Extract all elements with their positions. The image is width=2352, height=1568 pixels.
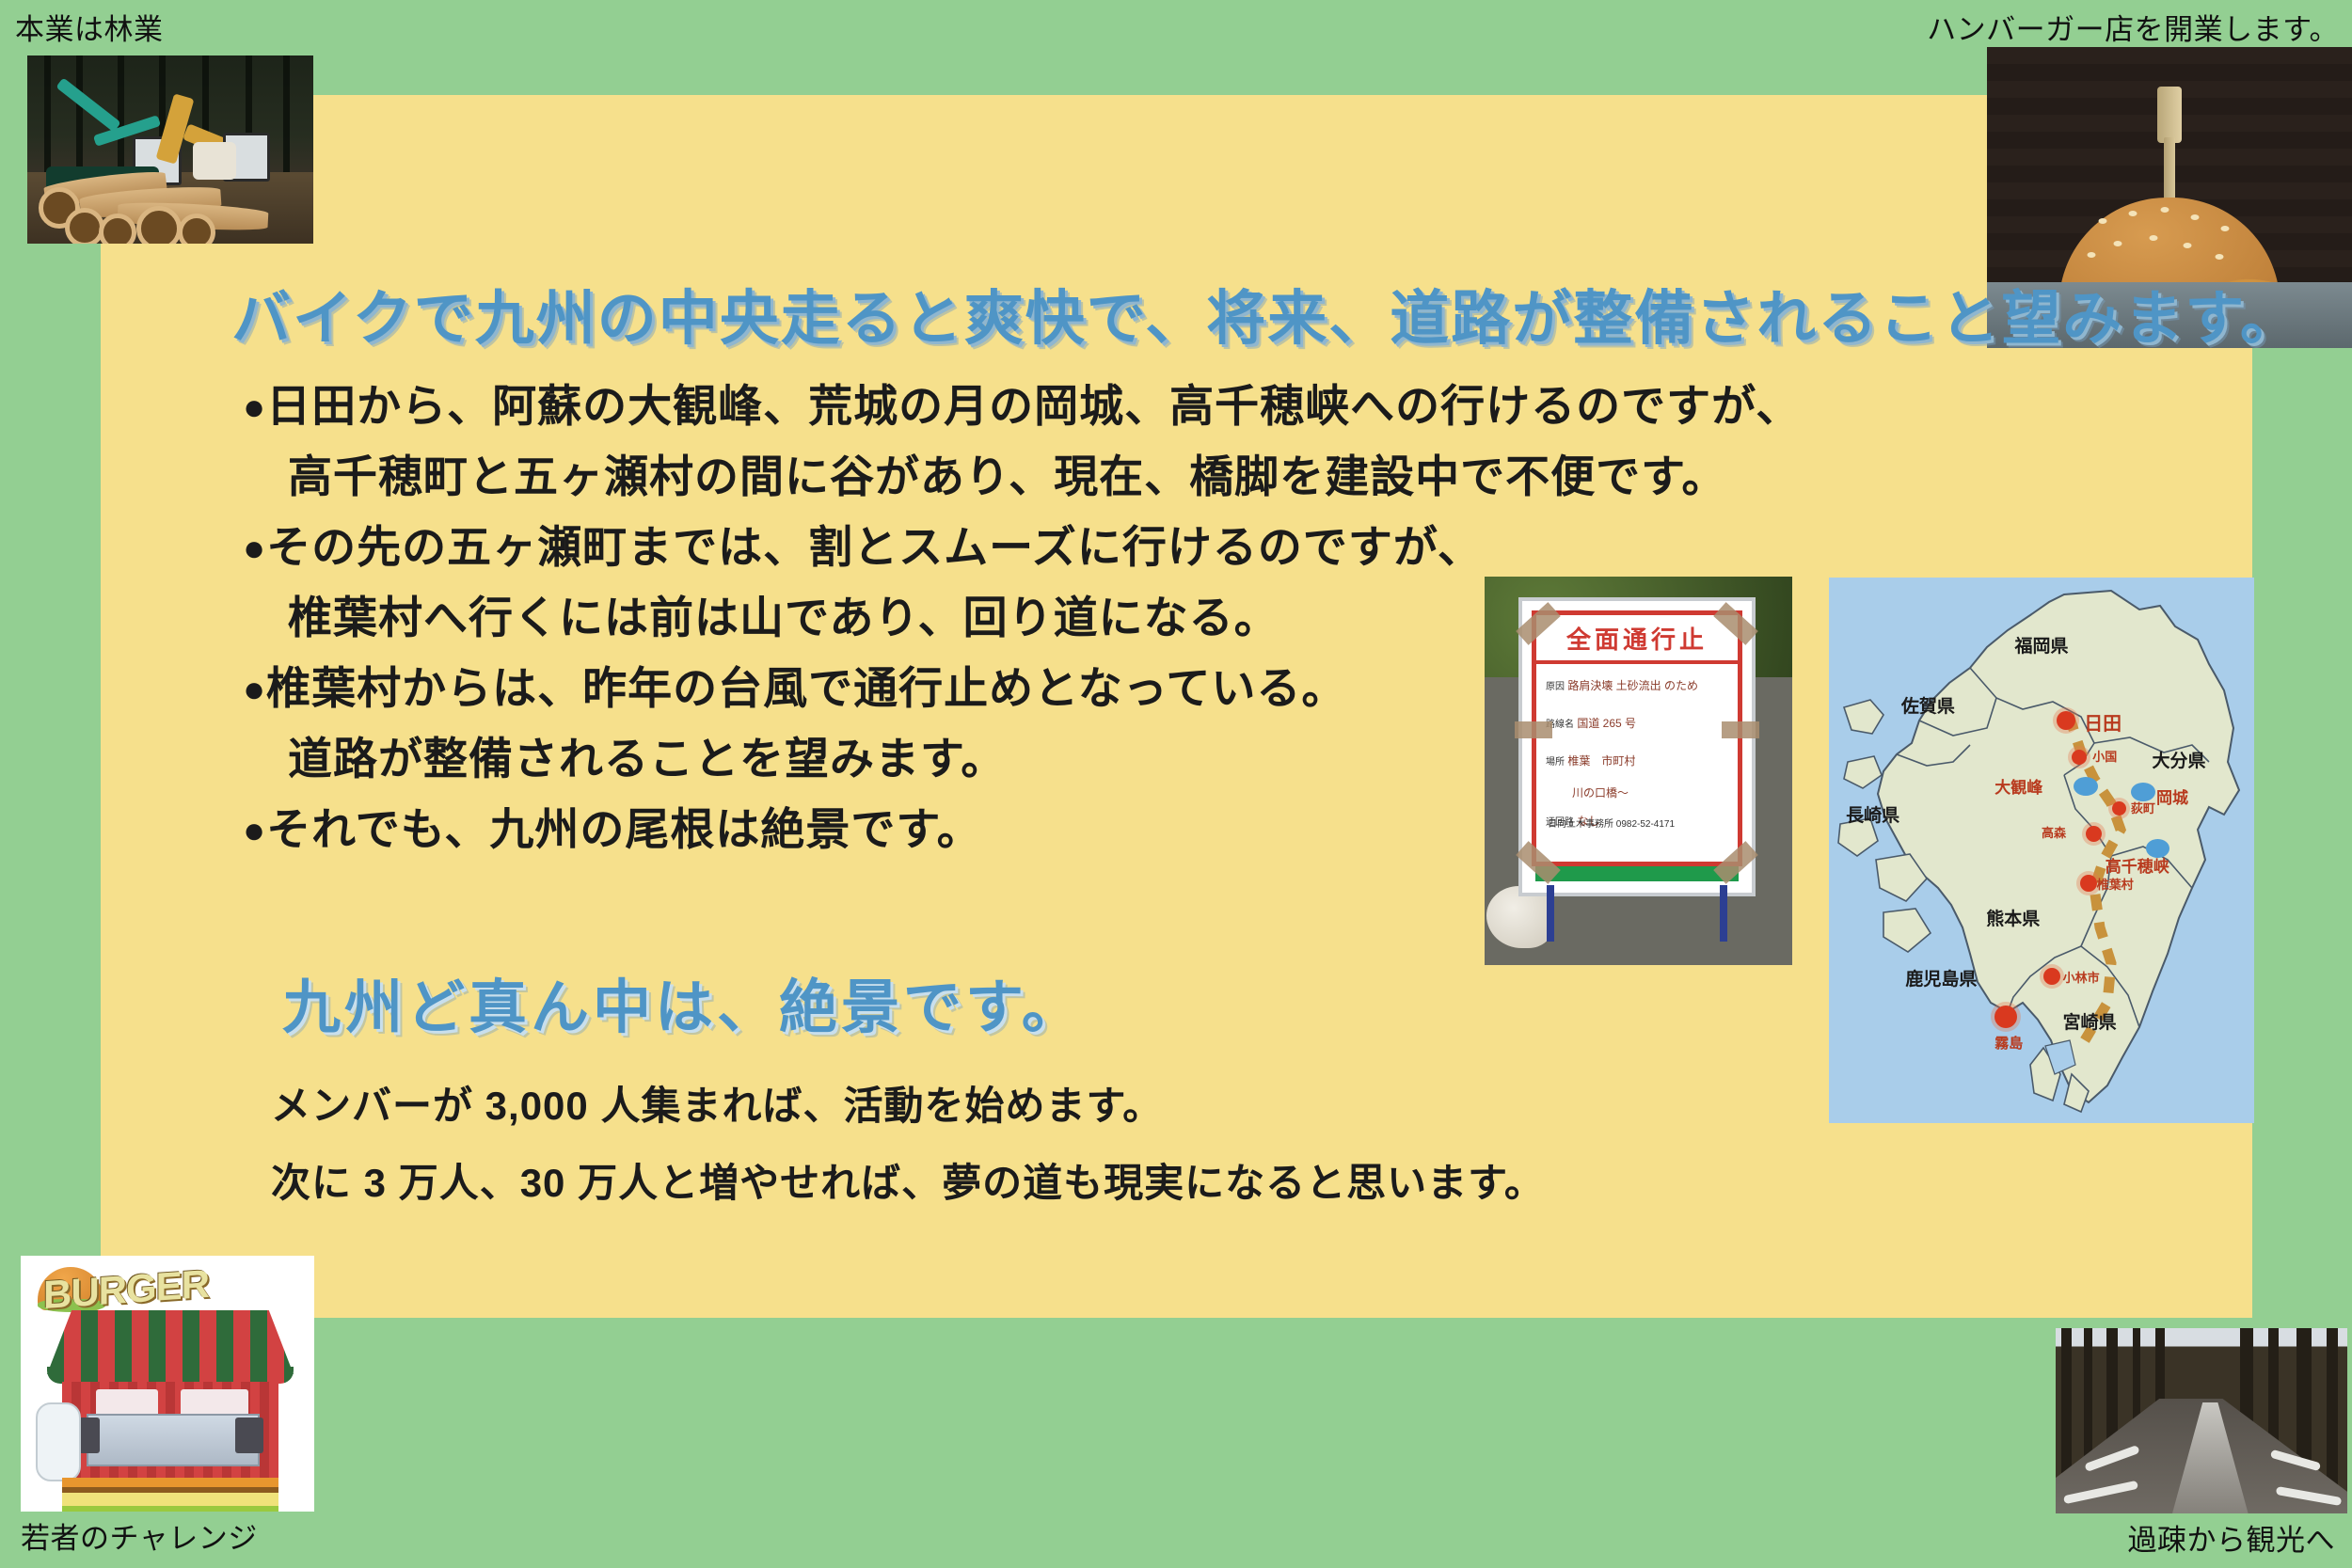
bullet-text: 日田から、阿蘇の大観峰、荒城の月の岡城、高千穂峡への行けるのですが、 [266, 381, 1801, 431]
bullet-line: 椎葉村へ行くには前は山であり、回り道になる。 [288, 595, 1767, 640]
map-spot-label: 小林市 [2063, 968, 2100, 986]
map-pref-label: 大分県 [2153, 747, 2206, 772]
map-dot-shiibason [2080, 875, 2097, 892]
caption-forestry: 本業は林業 [15, 6, 164, 48]
map-pref-label: 熊本県 [1986, 905, 2040, 930]
bullet-line: ●日田から、阿蘇の大観峰、荒城の月の岡城、高千穂峡への行けるのですが、 [243, 384, 1767, 428]
caption-burger-shop: ハンバーガー店を開業します。 [1927, 6, 2339, 48]
bullet-line: ●その先の五ヶ瀬町までは、割とスムーズに行けるのですが、 [243, 525, 1767, 569]
map-dot-hita [2057, 711, 2075, 730]
closing-text: メンバーが 3,000 人集まれば、活動を始めます。 次に 3 万人、30 万人… [271, 1086, 1545, 1241]
caption-tourism: 過疎から観光へ [2128, 1516, 2336, 1559]
bullet-marker: ● [243, 669, 266, 710]
map-dot-daikanbo [2074, 777, 2098, 796]
forestry-photo [27, 55, 313, 244]
bullet-line: ●それでも、九州の尾根は絶景です。 [243, 807, 1767, 851]
map-pref-label: 福岡県 [2014, 632, 2068, 657]
map-spot-label: 日田 [2084, 708, 2122, 736]
map-spot-label: 荻町 [2131, 799, 2155, 816]
bullet-text: 道路が整備されることを望みます。 [288, 734, 1006, 784]
bullet-text: 椎葉村へ行くには前は山であり、回り道になる。 [288, 593, 1279, 642]
map-pref-label: 長崎県 [1846, 801, 1899, 827]
bullet-marker: ● [243, 528, 266, 569]
bullet-text: それでも、九州の尾根は絶景です。 [266, 804, 981, 854]
map-pref-label: 佐賀県 [1901, 692, 1955, 718]
map-pref-label: 宮崎県 [2063, 1008, 2117, 1034]
bullet-text: 高千穂町と五ヶ瀬村の間に谷があり、現在、橋脚を建設中で不便です。 [288, 451, 1726, 501]
bullet-line: 高千穂町と五ヶ瀬村の間に谷があり、現在、橋脚を建設中で不便です。 [288, 454, 1767, 499]
map-spot-label: 霧島 [1994, 1033, 2023, 1053]
bullet-list: ●日田から、阿蘇の大観峰、荒城の月の岡城、高千穂峡への行けるのですが、 高千穂町… [243, 384, 1767, 878]
map-spot-label: 大観峰 [1994, 774, 2042, 798]
map-spot-label: 椎葉村 [2097, 875, 2134, 893]
bullet-line: 道路が整備されることを望みます。 [288, 736, 1767, 781]
bullet-text: 椎葉村からは、昨年の台風で通行止めとなっている。 [266, 663, 1346, 713]
bullet-text: その先の五ヶ瀬町までは、割とスムーズに行けるのですが、 [266, 522, 1483, 572]
burger-shop-illustration: BURGER [21, 1256, 314, 1512]
bullet-line: ●椎葉村からは、昨年の台風で通行止めとなっている。 [243, 666, 1767, 710]
forest-road-photo [2056, 1328, 2347, 1513]
bullet-marker: ● [243, 387, 266, 428]
map-spot-label: 高森 [2042, 823, 2066, 841]
page-title: バイクで九州の中央走ると爽快で、将来、道路が整備されること望みます。 [231, 271, 1972, 356]
caption-youth-challenge: 若者のチャレンジ [21, 1514, 258, 1557]
kyushu-map: 福岡県 佐賀県 長崎県 大分県 熊本県 鹿児島県 宮崎県 日田 小国 大観峰 岡… [1829, 578, 2254, 1123]
map-dot-kobayashi [2043, 968, 2060, 985]
emphasis-text: 九州ど真ん中は、絶景です。 [282, 959, 1084, 1044]
map-dot-oguni [2072, 750, 2087, 765]
map-spot-label: 小国 [2092, 747, 2117, 765]
closing-line: 次に 3 万人、30 万人と増やせれば、夢の道も現実になると思います。 [271, 1164, 1545, 1203]
map-spot-label: 岡城 [2156, 784, 2188, 808]
map-landmass [1829, 578, 2254, 1123]
closing-line: メンバーが 3,000 人集まれば、活動を始めます。 [271, 1086, 1545, 1126]
map-pref-label: 鹿児島県 [1905, 965, 1977, 990]
map-spot-label: 高千穂峡 [2106, 853, 2169, 877]
bullet-marker: ● [243, 810, 266, 851]
map-dot-ogimachi [2112, 801, 2126, 816]
